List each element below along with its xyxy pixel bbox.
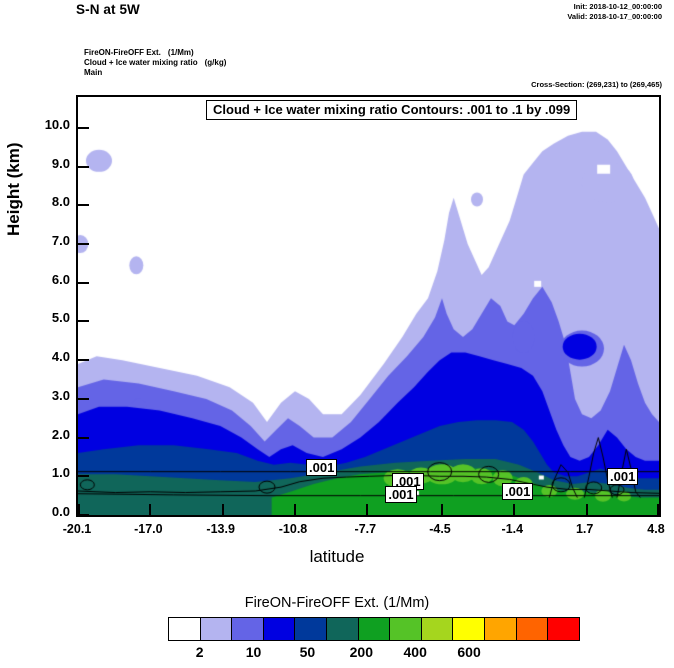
x-tick-label: -13.9 [191,522,251,536]
x-tick-mark [222,504,224,515]
y-tick-mark [78,475,89,477]
colorbar-cell[interactable] [485,618,517,640]
colorbar-tick-label: 400 [390,644,440,660]
x-tick-mark [441,504,443,515]
x-tick-label: -4.5 [410,522,470,536]
field-line-2: Cloud + Ice water mixing ratio(g/kg) [84,58,226,68]
y-tick-label: 2.0 [14,427,70,442]
colorbar-tick-label: 10 [229,644,279,660]
x-tick-label: -17.0 [118,522,178,536]
contour-label: .001 [607,468,638,485]
field-line-1: FireON-FireOFF Ext.(1/Mm) [84,48,226,58]
x-tick-label: -7.7 [335,522,395,536]
y-tick-label: 8.0 [14,194,70,209]
colorbar-cell[interactable] [548,618,579,640]
x-axis-title: latitude [0,547,674,567]
page-title: S-N at 5W [76,2,140,17]
colorbar-tick-label: 600 [444,644,494,660]
x-tick-mark [294,504,296,515]
plot-area: Cloud + Ice water mixing ratio Contours:… [76,95,661,517]
colorbar-cell[interactable] [359,618,391,640]
x-tick-mark [78,504,80,515]
y-tick-label: 5.0 [14,310,70,325]
x-tick-mark [149,504,151,515]
y-tick-mark [78,282,89,284]
y-tick-mark [78,320,89,322]
x-tick-label: -1.4 [482,522,542,536]
x-tick-label: -10.8 [263,522,323,536]
y-tick-label: 7.0 [14,233,70,248]
x-tick-mark [513,504,515,515]
y-tick-mark [78,243,89,245]
field-description-block: FireON-FireOFF Ext.(1/Mm) Cloud + Ice wa… [84,48,226,78]
field-line-3: Main [84,68,226,78]
colorbar-cell[interactable] [327,618,359,640]
x-tick-label: 4.8 [626,522,674,536]
colorbar-cell[interactable] [422,618,454,640]
contour-title-box: Cloud + Ice water mixing ratio Contours:… [206,100,577,120]
y-tick-label: 4.0 [14,349,70,364]
colorbar-tick-label: 200 [336,644,386,660]
init-valid-block: Init: 2018-10-12_00:00:00 Valid: 2018-10… [567,2,662,21]
colorbar-cell[interactable] [232,618,264,640]
contour-label: .001 [385,486,416,503]
init-time: Init: 2018-10-12_00:00:00 [567,2,662,12]
contour-label: .001 [306,459,337,476]
colorbar-tick-label: 2 [175,644,225,660]
colorbar-cell[interactable] [201,618,233,640]
colorbar[interactable] [168,617,580,641]
colorbar-cell[interactable] [295,618,327,640]
colorbar-cell[interactable] [517,618,549,640]
cross-section-label: Cross-Section: (269,231) to (269,465) [531,80,662,89]
y-tick-label: 1.0 [14,465,70,480]
y-tick-label: 3.0 [14,388,70,403]
contour-label: .001 [502,483,533,500]
x-tick-mark [657,504,659,515]
y-tick-label: 9.0 [14,156,70,171]
y-tick-label: 10.0 [14,117,70,132]
colorbar-tick-label: 50 [282,644,332,660]
x-tick-mark [586,504,588,515]
contour-fill-canvas [78,97,659,515]
y-tick-label: 0.0 [14,504,70,519]
colorbar-cell[interactable] [390,618,422,640]
colorbar-cell[interactable] [453,618,485,640]
y-tick-mark [78,437,89,439]
colorbar-title: FireON-FireOFF Ext. (1/Mm) [0,595,674,611]
y-tick-mark [78,204,89,206]
y-tick-mark [78,166,89,168]
colorbar-cell[interactable] [264,618,296,640]
x-tick-label: -20.1 [47,522,107,536]
y-tick-mark [78,359,89,361]
x-tick-label: 1.7 [555,522,615,536]
y-tick-label: 6.0 [14,272,70,287]
x-tick-mark [366,504,368,515]
y-tick-mark [78,398,89,400]
colorbar-cell[interactable] [169,618,201,640]
valid-time: Valid: 2018-10-17_00:00:00 [567,12,662,22]
y-tick-mark [78,127,89,129]
